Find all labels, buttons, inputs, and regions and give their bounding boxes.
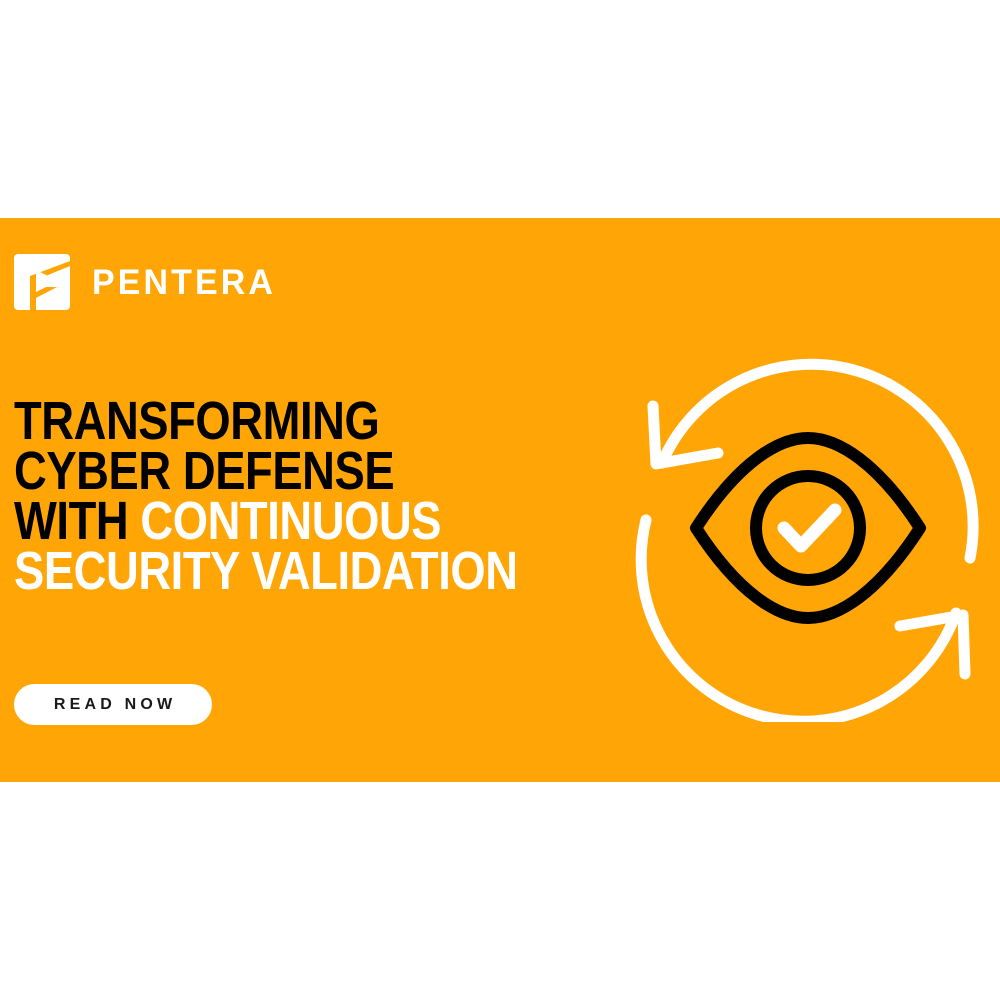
brand-wordmark: PENTERA <box>92 265 276 300</box>
hero-band: PENTERA TRANSFORMING CYBER DEFENSE WITH … <box>0 218 1000 782</box>
iris-circle-icon <box>756 476 860 580</box>
headline-line-2: CYBER DEFENSE <box>14 446 535 496</box>
continuous-validation-eye-icon <box>612 330 1000 722</box>
headline-line-4: SECURITY VALIDATION <box>14 546 535 596</box>
banner-root: PENTERA TRANSFORMING CYBER DEFENSE WITH … <box>0 0 1000 1000</box>
pentera-logo-mark-icon <box>14 254 70 310</box>
brand-logo-lockup[interactable]: PENTERA <box>14 254 282 310</box>
headline-line-1: TRANSFORMING <box>14 396 535 446</box>
eye-outline-icon <box>696 438 920 618</box>
read-now-button[interactable]: READ NOW <box>14 684 212 725</box>
headline: TRANSFORMING CYBER DEFENSE WITH CONTINUO… <box>14 396 634 596</box>
checkmark-icon <box>784 510 835 546</box>
headline-line-3: WITH CONTINUOUS <box>14 496 535 546</box>
